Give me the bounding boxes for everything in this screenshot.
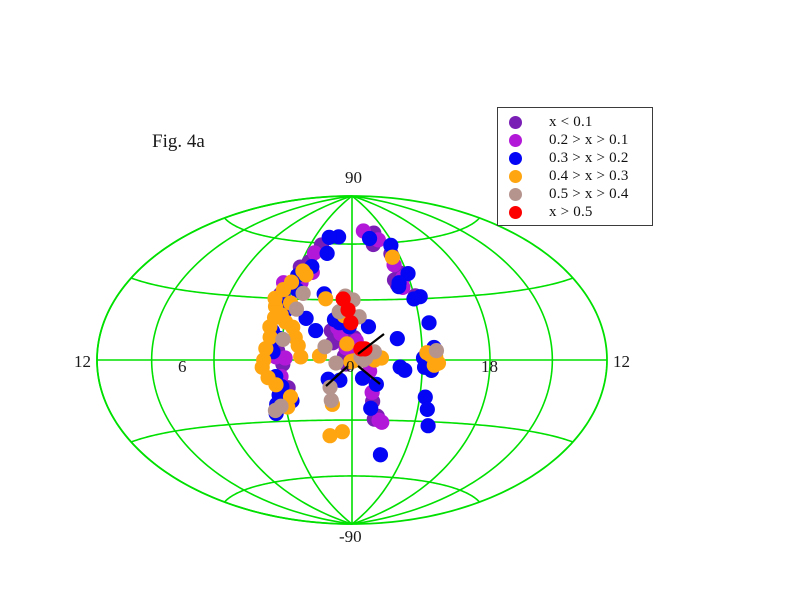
data-point — [268, 403, 283, 418]
data-point — [391, 279, 406, 294]
figure-caption: Fig. 4a — [152, 131, 205, 153]
legend-row-3: 0.4 > x > 0.3 — [498, 167, 652, 185]
legend-swatch-icon — [509, 170, 522, 183]
data-point — [293, 349, 308, 364]
data-point — [276, 282, 291, 297]
legend-swatch-icon — [509, 116, 522, 129]
legend-label: x > 0.5 — [549, 204, 593, 221]
data-point — [373, 447, 388, 462]
legend-label: 0.2 > x > 0.1 — [549, 132, 629, 149]
data-point — [289, 302, 304, 317]
data-point — [421, 418, 436, 433]
legend-label: x < 0.1 — [549, 114, 593, 131]
data-point — [421, 315, 436, 330]
data-point — [362, 231, 377, 246]
data-point — [406, 291, 421, 306]
data-point — [320, 246, 335, 261]
data-point — [390, 331, 405, 346]
data-point — [322, 428, 337, 443]
legend-row-2: 0.3 > x > 0.2 — [498, 149, 652, 167]
data-point — [340, 302, 355, 317]
ra-label-12-left: 12 — [74, 352, 91, 372]
legend-swatch-icon — [509, 188, 522, 201]
dec-label-minus-90: -90 — [339, 527, 362, 547]
legend-swatch-icon — [509, 206, 522, 219]
data-point — [420, 402, 435, 417]
legend-row-0: x < 0.1 — [498, 113, 652, 131]
data-point — [328, 355, 343, 370]
legend-swatch-icon — [509, 152, 522, 165]
data-point — [343, 315, 358, 330]
legend-label: 0.4 > x > 0.3 — [549, 168, 629, 185]
data-point — [363, 401, 378, 416]
data-point — [275, 332, 290, 347]
data-point — [268, 377, 283, 392]
ra-label-0: 0 — [346, 357, 355, 377]
dec-label-90: 90 — [345, 168, 362, 188]
legend-row-1: 0.2 > x > 0.1 — [498, 131, 652, 149]
ra-label-12-right: 12 — [613, 352, 630, 372]
data-point — [339, 336, 354, 351]
data-point — [369, 377, 384, 392]
data-point — [308, 323, 323, 338]
data-point — [317, 339, 332, 354]
data-point — [385, 250, 400, 265]
data-point — [324, 393, 339, 408]
scatter-points-layer — [255, 223, 446, 462]
legend: x < 0.10.2 > x > 0.10.3 > x > 0.20.4 > x… — [497, 107, 653, 226]
data-point — [397, 363, 412, 378]
data-point — [374, 415, 389, 430]
data-point — [322, 230, 337, 245]
legend-row-4: 0.5 > x > 0.4 — [498, 185, 652, 203]
legend-swatch-icon — [509, 134, 522, 147]
data-point — [295, 263, 310, 278]
data-point — [296, 286, 311, 301]
figure-canvas: Fig. 4a 90-9012601812 x < 0.10.2 > x > 0… — [0, 0, 798, 616]
aitoff-sky-map — [0, 0, 798, 616]
legend-label: 0.3 > x > 0.2 — [549, 150, 629, 167]
data-point — [429, 343, 444, 358]
ra-label-18: 18 — [481, 357, 498, 377]
ra-label-6: 6 — [178, 357, 187, 377]
data-point — [318, 291, 333, 306]
legend-row-5: x > 0.5 — [498, 203, 652, 221]
legend-label: 0.5 > x > 0.4 — [549, 186, 629, 203]
